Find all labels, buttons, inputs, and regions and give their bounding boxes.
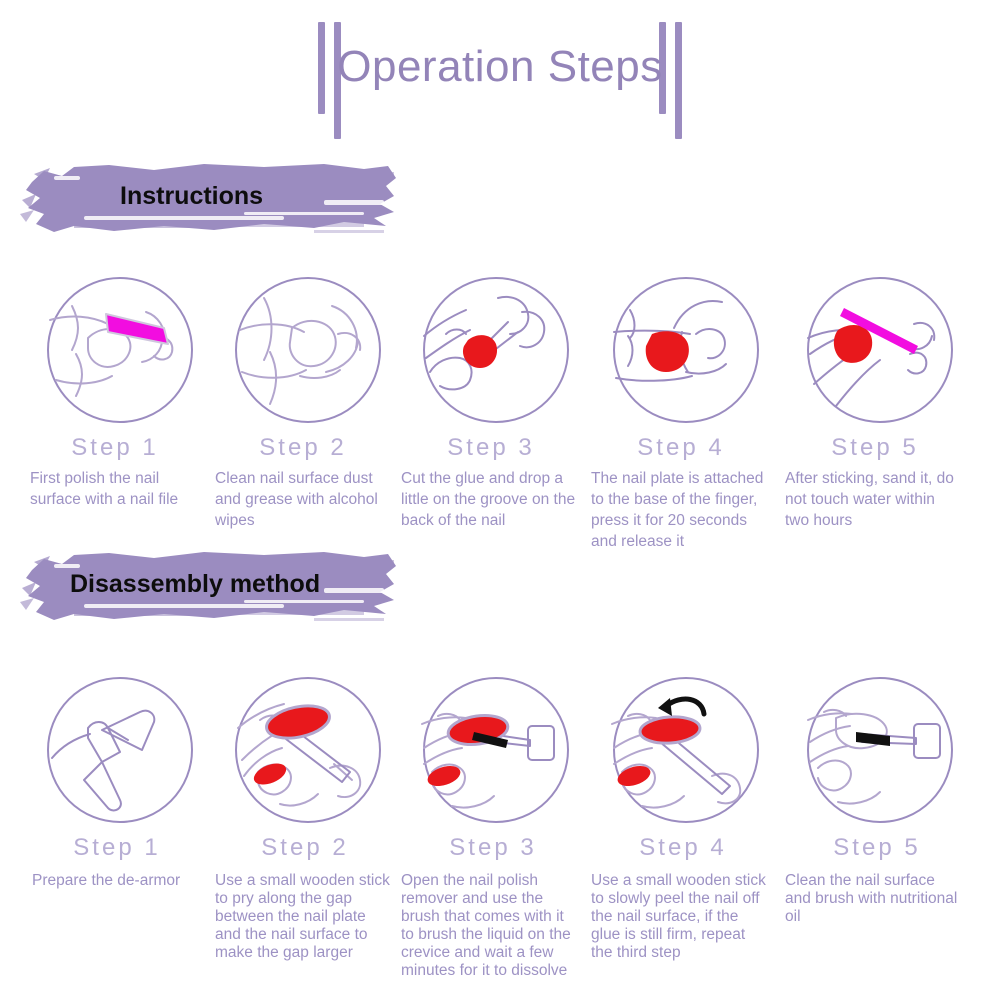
step-label: Step 5	[782, 434, 968, 462]
step-caption: First polish the nail surface with a nai…	[30, 468, 206, 510]
pressing-nail-plate-illustration	[612, 276, 760, 424]
disassembly-banner-label: Disassembly method	[70, 570, 320, 599]
step-caption: Use a small wooden stick to slowly peel …	[591, 872, 771, 962]
hand-with-nail-file-illustration	[46, 276, 194, 424]
prying-nail-gap-illustration	[234, 676, 382, 824]
step-label: Step 5	[784, 834, 970, 862]
brushing-nutritional-oil-illustration	[806, 676, 954, 824]
glue-applicator-on-nail-illustration	[422, 276, 570, 424]
step-caption: Clean nail surface dust and grease with …	[215, 468, 391, 531]
step-caption: After sticking, sand it, do not touch wa…	[785, 468, 961, 531]
step-caption: The nail plate is attached to the base o…	[591, 468, 767, 552]
step-caption: Use a small wooden stick to pry along th…	[215, 872, 395, 962]
step-label: Step 2	[212, 834, 398, 862]
peeling-nail-with-arrow-illustration	[612, 676, 760, 824]
step-label: Step 4	[590, 834, 776, 862]
wooden-stick-tool-illustration	[46, 676, 194, 824]
step-label: Step 2	[210, 434, 396, 462]
step-label: Step 1	[24, 834, 210, 862]
step-caption: Cut the glue and drop a little on the gr…	[401, 468, 577, 531]
disassembly-banner: Disassembly method	[14, 540, 414, 630]
page-header: Operation Steps	[0, 8, 1000, 148]
page-title: Operation Steps	[0, 42, 1000, 92]
brushing-remover-liquid-illustration	[422, 676, 570, 824]
step-caption: Prepare the de-armor	[32, 872, 218, 890]
hand-wiping-nail-illustration	[234, 276, 382, 424]
step-caption: Clean the nail surface and brush with nu…	[785, 872, 965, 926]
step-caption: Open the nail polish remover and use the…	[401, 872, 581, 980]
sanding-nail-with-file-illustration	[806, 276, 954, 424]
instructions-banner-label: Instructions	[120, 182, 263, 211]
step-label: Step 3	[398, 434, 584, 462]
instructions-banner: Instructions	[14, 152, 414, 242]
step-label: Step 3	[400, 834, 586, 862]
step-label: Step 4	[588, 434, 774, 462]
step-label: Step 1	[22, 434, 208, 462]
